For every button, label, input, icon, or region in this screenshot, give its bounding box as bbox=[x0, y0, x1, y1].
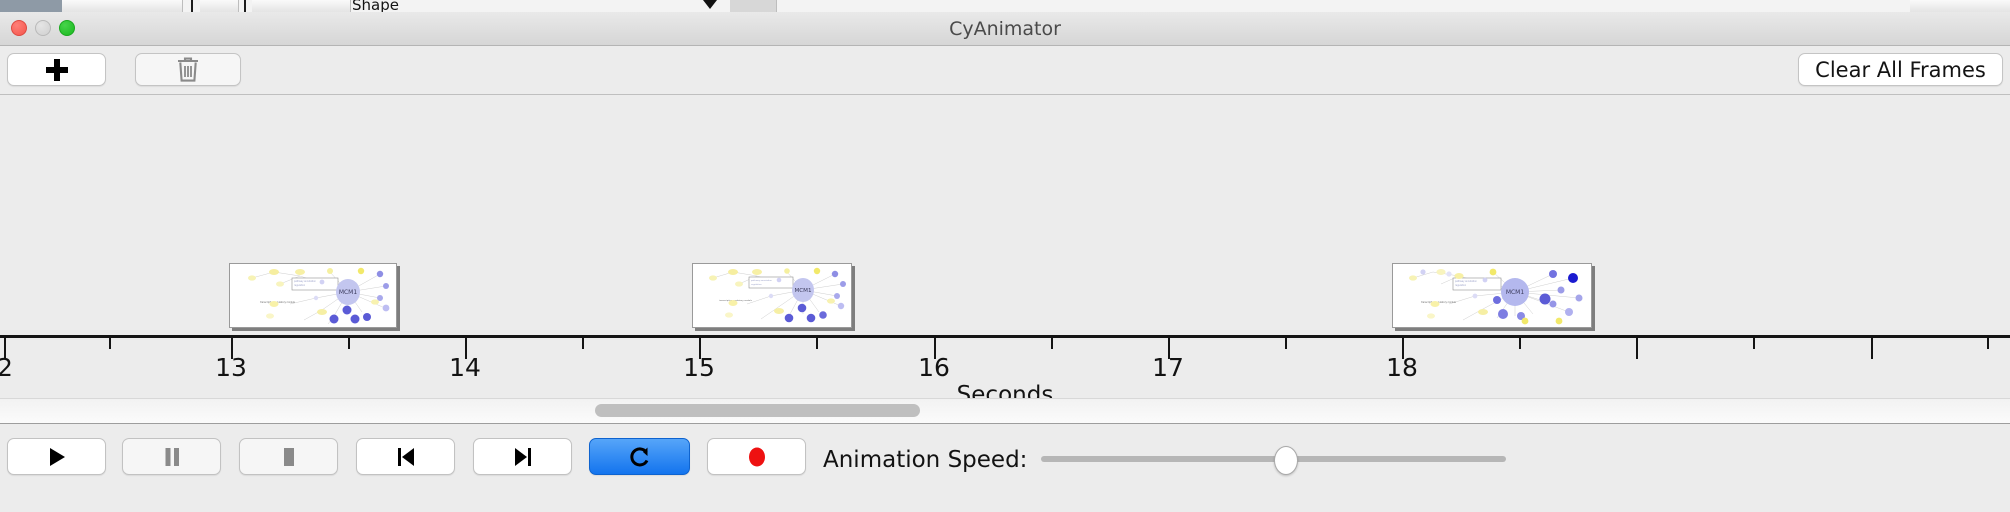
axis-tick-minor bbox=[1519, 338, 1521, 349]
bg-segment bbox=[0, 0, 62, 12]
svg-text:MCM1: MCM1 bbox=[1506, 289, 1525, 296]
axis-tick-major bbox=[1636, 338, 1638, 359]
bg-segment bbox=[306, 0, 351, 12]
play-icon bbox=[46, 446, 68, 468]
bg-segment bbox=[140, 0, 183, 12]
axis-title: Seconds bbox=[0, 382, 2010, 398]
svg-text:regulation: regulation bbox=[751, 283, 762, 286]
bg-triangle-marker bbox=[703, 0, 717, 9]
cyanimator-window: CyAnimator Clear All Frames bbox=[0, 12, 2010, 510]
network-thumbnail: pathway annotation regulation transcript… bbox=[1393, 264, 1591, 327]
svg-text:regulation: regulation bbox=[1455, 284, 1467, 287]
svg-text:pathway annotation: pathway annotation bbox=[1455, 280, 1478, 283]
pause-icon bbox=[162, 446, 182, 468]
animation-speed-slider-thumb[interactable] bbox=[1274, 446, 1298, 475]
axis-tick-minor bbox=[1753, 338, 1755, 349]
svg-text:regulation: regulation bbox=[294, 284, 306, 287]
timeline-frame-thumbnail[interactable]: pathway annotation regulation transcript… bbox=[692, 263, 852, 328]
timeline-panel[interactable]: pathway annotation regulation transcript… bbox=[0, 95, 2010, 398]
loop-button[interactable] bbox=[589, 438, 690, 475]
axis-tick-label: 18 bbox=[1386, 353, 1418, 382]
svg-text:MCM1: MCM1 bbox=[794, 288, 812, 294]
axis-tick-minor bbox=[109, 338, 111, 349]
skip-to-end-button[interactable] bbox=[473, 438, 572, 475]
svg-text:pathway annotation: pathway annotation bbox=[751, 279, 773, 282]
frame-toolbar: Clear All Frames bbox=[0, 46, 2010, 95]
bg-segment bbox=[252, 0, 307, 12]
axis-tick-label: 17 bbox=[1152, 353, 1184, 382]
svg-text:MCM1: MCM1 bbox=[339, 289, 358, 296]
clear-all-frames-button[interactable]: Clear All Frames bbox=[1798, 53, 2003, 86]
svg-text:pathway annotation: pathway annotation bbox=[294, 280, 317, 283]
timeline-frame-thumbnail[interactable]: pathway annotation regulation transcript… bbox=[229, 263, 397, 328]
skip-to-start-button[interactable] bbox=[356, 438, 455, 475]
axis-tick-minor bbox=[1285, 338, 1287, 349]
axis-tick-label: 14 bbox=[449, 353, 481, 382]
trash-icon bbox=[176, 56, 200, 83]
axis-tick-minor bbox=[582, 338, 584, 349]
axis-tick-minor bbox=[348, 338, 350, 349]
axis-tick-label: 15 bbox=[683, 353, 715, 382]
axis-tick-label: 13 bbox=[215, 353, 247, 382]
bg-segment bbox=[200, 0, 239, 12]
pause-button[interactable] bbox=[122, 438, 221, 475]
transport-bar: Animation Speed: bbox=[0, 424, 2010, 512]
scrollbar-thumb[interactable] bbox=[595, 404, 920, 417]
timeline-horizontal-scrollbar[interactable] bbox=[0, 398, 2010, 424]
timeline-axis bbox=[0, 335, 2010, 338]
network-thumbnail: pathway annotation regulation transcript… bbox=[230, 264, 396, 327]
loop-icon bbox=[628, 445, 652, 469]
axis-tick-minor bbox=[816, 338, 818, 349]
bg-segment bbox=[1910, 0, 1951, 12]
title-bar: CyAnimator bbox=[0, 12, 2010, 46]
axis-tick-minor bbox=[1987, 338, 1989, 349]
add-frame-button[interactable] bbox=[7, 53, 106, 86]
skip-back-icon bbox=[395, 446, 417, 468]
skip-forward-icon bbox=[512, 446, 534, 468]
play-button[interactable] bbox=[7, 438, 106, 475]
window-title: CyAnimator bbox=[0, 18, 2010, 40]
axis-tick-minor bbox=[1051, 338, 1053, 349]
stop-icon bbox=[279, 446, 299, 468]
axis-tick-label: 2 bbox=[0, 353, 13, 382]
record-icon bbox=[746, 445, 768, 469]
axis-tick-label: 16 bbox=[918, 353, 950, 382]
bg-tick bbox=[191, 0, 193, 12]
delete-frame-button[interactable] bbox=[135, 53, 241, 86]
timeline-frame-thumbnail[interactable]: pathway annotation regulation transcript… bbox=[1392, 263, 1592, 328]
animation-speed-label: Animation Speed: bbox=[823, 447, 1027, 473]
bg-segment bbox=[62, 0, 141, 12]
stop-button[interactable] bbox=[239, 438, 338, 475]
bg-segment bbox=[1950, 0, 2010, 12]
network-thumbnail: pathway annotation regulation transcript… bbox=[693, 264, 851, 327]
plus-icon bbox=[46, 59, 68, 81]
bg-tick bbox=[244, 0, 246, 12]
bg-segment bbox=[730, 0, 777, 12]
record-button[interactable] bbox=[707, 438, 806, 475]
axis-tick-major bbox=[1871, 338, 1873, 359]
clear-all-frames-label: Clear All Frames bbox=[1815, 58, 1986, 82]
